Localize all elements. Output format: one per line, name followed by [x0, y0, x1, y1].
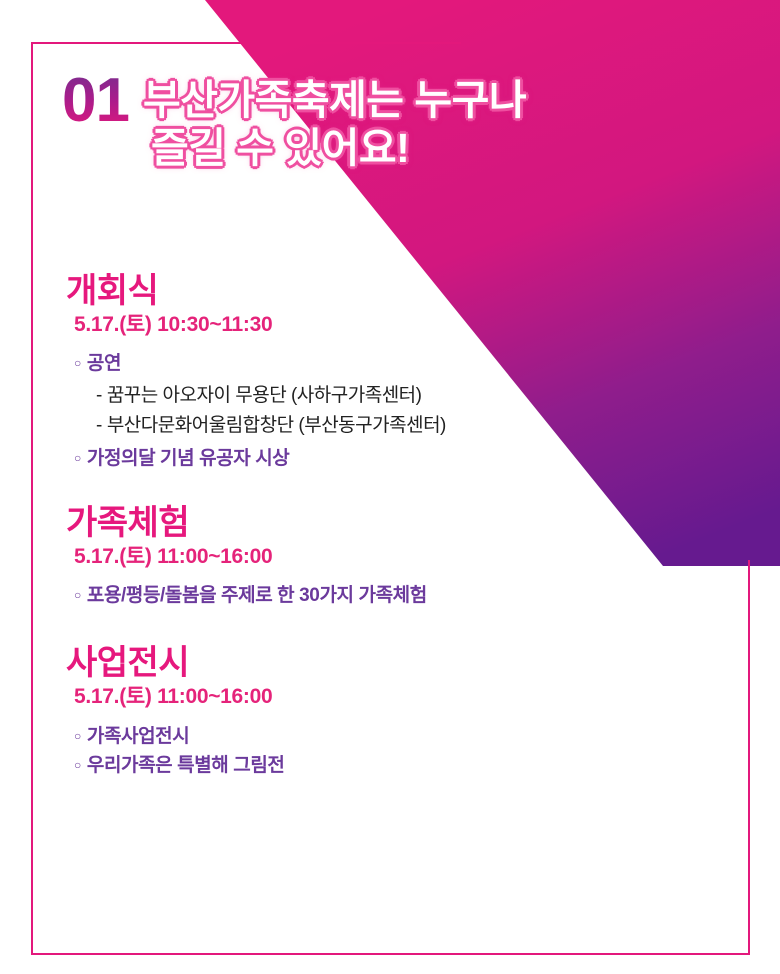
list-item: ○ 가정의달 기념 유공자 시상	[66, 444, 726, 473]
spacer	[66, 573, 726, 581]
section-family-experience: 가족체험 5.17.(토) 11:00~16:00 ○ 포용/평등/돌봄을 주제…	[66, 504, 726, 611]
circle-bullet-icon: ○	[74, 759, 81, 771]
program-sections: 개회식 5.17.(토) 10:30~11:30 ○ 공연 - 꿈꾸는 아오자이…	[66, 272, 726, 787]
list-item: ○ 우리가족은 특별해 그림전	[66, 751, 726, 780]
list-item: ○ 가족사업전시	[66, 722, 726, 751]
spacer	[66, 714, 726, 722]
sub-list: - 꿈꾸는 아오자이 무용단 (사하구가족센터) - 부산다문화어울림합창단 (…	[66, 381, 726, 443]
bullet-item-label: 공연	[87, 349, 121, 378]
bullet-item-label: 포용/평등/돌봄을 주제로 한 30가지 가족체험	[87, 581, 427, 610]
poster-title: 부산가족축제는 누구나 즐길 수 있어요!	[143, 72, 526, 173]
bullet-item-label: 우리가족은 특별해 그림전	[87, 751, 285, 780]
list-item: ○ 공연 - 꿈꾸는 아오자이 무용단 (사하구가족센터) - 부산다문화어울림…	[66, 349, 726, 442]
bullet-list: ○ 공연 - 꿈꾸는 아오자이 무용단 (사하구가족센터) - 부산다문화어울림…	[66, 349, 726, 473]
sub-item-text: 꿈꾸는 아오자이 무용단 (사하구가족센터)	[107, 381, 422, 412]
frame-bottom-edge	[31, 953, 750, 955]
frame-left-edge	[31, 42, 33, 955]
list-item: ○ 포용/평등/돌봄을 주제로 한 30가지 가족체험	[66, 581, 726, 610]
bullet-item: ○ 공연	[74, 349, 726, 378]
poster-root: 01 부산가족축제는 누구나 즐길 수 있어요! 개회식 5.17.(토) 10…	[0, 0, 780, 974]
dash-marker: -	[96, 411, 102, 442]
poster-header: 01 부산가족축제는 누구나 즐길 수 있어요!	[62, 72, 752, 173]
bullet-item-label: 가족사업전시	[87, 722, 189, 751]
bullet-item: ○ 포용/평등/돌봄을 주제로 한 30가지 가족체험	[74, 581, 726, 610]
sub-item-text: 부산다문화어울림합창단 (부산동구가족센터)	[107, 411, 446, 442]
circle-bullet-icon: ○	[74, 730, 81, 742]
bullet-item: ○ 우리가족은 특별해 그림전	[74, 751, 726, 780]
frame-right-edge	[748, 560, 750, 955]
title-line-1: 부산가족축제는 누구나	[143, 76, 526, 124]
sub-list-item: - 부산다문화어울림합창단 (부산동구가족센터)	[96, 411, 726, 442]
spacer	[66, 341, 726, 349]
circle-bullet-icon: ○	[74, 452, 81, 464]
circle-bullet-icon: ○	[74, 357, 81, 369]
section-date: 5.17.(토) 10:30~11:30	[74, 312, 726, 337]
circle-bullet-icon: ○	[74, 589, 81, 601]
bullet-item-label: 가정의달 기념 유공자 시상	[87, 444, 290, 473]
sub-list-item: - 꿈꾸는 아오자이 무용단 (사하구가족센터)	[96, 381, 726, 412]
step-number: 01	[62, 72, 129, 131]
bullet-list: ○ 포용/평등/돌봄을 주제로 한 30가지 가족체험	[66, 581, 726, 610]
dash-marker: -	[96, 381, 102, 412]
section-heading: 개회식	[66, 272, 726, 310]
section-heading: 사업전시	[66, 644, 726, 682]
frame-top-edge	[31, 42, 461, 44]
section-opening-ceremony: 개회식 5.17.(토) 10:30~11:30 ○ 공연 - 꿈꾸는 아오자이…	[66, 272, 726, 474]
section-heading: 가족체험	[66, 504, 726, 542]
bullet-list: ○ 가족사업전시 ○ 우리가족은 특별해 그림전	[66, 722, 726, 781]
section-project-exhibition: 사업전시 5.17.(토) 11:00~16:00 ○ 가족사업전시 ○ 우리가…	[66, 644, 726, 780]
title-line-2: 즐길 수 있어요!	[151, 124, 526, 172]
section-date: 5.17.(토) 11:00~16:00	[74, 544, 726, 569]
bullet-item: ○ 가정의달 기념 유공자 시상	[74, 444, 726, 473]
bullet-item: ○ 가족사업전시	[74, 722, 726, 751]
section-date: 5.17.(토) 11:00~16:00	[74, 684, 726, 709]
